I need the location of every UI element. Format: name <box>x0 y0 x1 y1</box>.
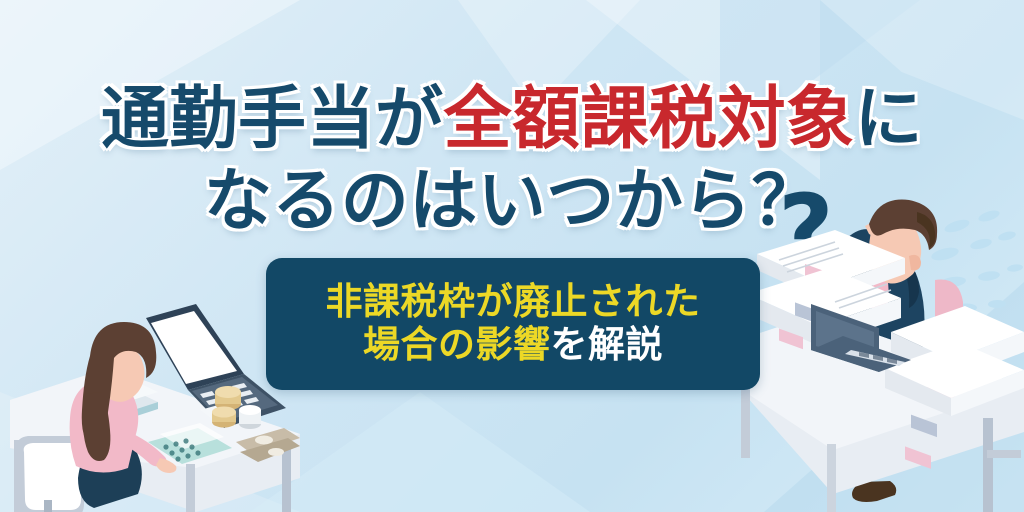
subtitle-line-1-text: 非課税枠が廃止された <box>326 280 701 323</box>
subtitle-line-2: 場合の影響を解説 <box>363 324 663 367</box>
subtitle-line-2-part-1: 場合の影響 <box>363 323 551 366</box>
subtitle-line-1: 非課税枠が廃止された <box>326 281 701 324</box>
banner-root: ? 通勤手当が全額課税対象に なるのはいつから？ 非課税枠が廃止された 場合の影… <box>0 0 1024 512</box>
title-line-2-text: なるのはいつから？ <box>204 162 821 241</box>
bg-facet-8 <box>250 392 590 512</box>
title-line-1: 通勤手当が全額課税対象に <box>0 86 1024 154</box>
title-line-2: なるのはいつから？ <box>0 168 1024 236</box>
title-line-1-part-1: 通勤手当が <box>101 80 444 159</box>
title-line-1-highlight: 全額課税対象 <box>443 80 854 159</box>
subtitle-line-2-part-2: を解説 <box>551 323 664 366</box>
illustration-woman-at-desk <box>0 282 300 512</box>
page-title: 通勤手当が全額課税対象に なるのはいつから？ <box>0 86 1024 236</box>
title-line-1-part-3: に <box>855 80 924 159</box>
subtitle-plate: 非課税枠が廃止された 場合の影響を解説 <box>266 258 760 390</box>
